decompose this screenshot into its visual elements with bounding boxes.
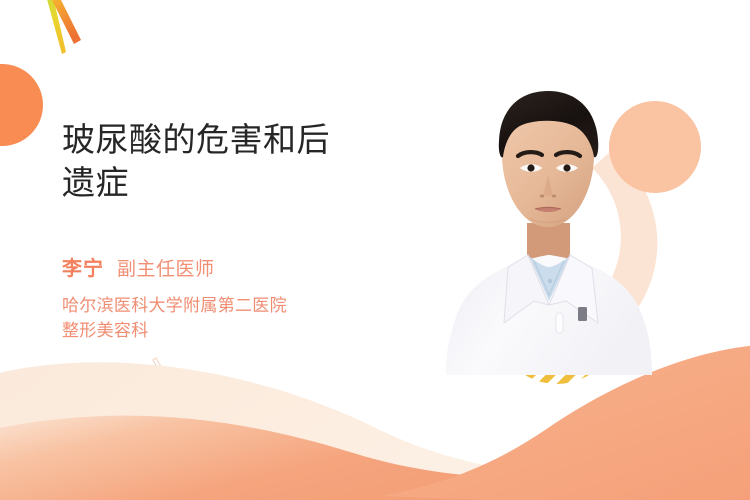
text-block: 玻尿酸的危害和后 遗症 李宁 副主任医师 哈尔滨医科大学附属第二医院 整形美容科 (62, 118, 422, 343)
shirt-button (548, 279, 552, 283)
doctor-photo (430, 55, 750, 390)
top-left-orange-stroke (48, 0, 81, 44)
page-title: 玻尿酸的危害和后 遗症 (62, 118, 422, 204)
hospital-name: 哈尔滨医科大学附属第二医院 (62, 293, 422, 318)
affiliation: 哈尔滨医科大学附属第二医院 整形美容科 (62, 293, 422, 343)
doctor-name: 李宁 (62, 252, 104, 281)
pocket-pen (556, 313, 563, 333)
top-left-thin-stroke (45, 0, 66, 54)
poster-canvas: 玻尿酸的危害和后 遗症 李宁 副主任医师 哈尔滨医科大学附属第二医院 整形美容科 (0, 0, 750, 500)
bottom-salmon-wave-back (0, 416, 750, 500)
doctor-rank: 副主任医师 (117, 254, 215, 281)
department-name: 整形美容科 (62, 318, 422, 343)
lower-left-outline-stroke (153, 358, 176, 394)
nostril-right (552, 195, 556, 198)
pupil-right (563, 164, 570, 171)
byline: 李宁 副主任医师 (62, 252, 422, 281)
doctor-portrait-illustration (430, 55, 750, 390)
left-orange-circle (0, 64, 43, 146)
pupil-left (527, 164, 534, 171)
pocket-badge (578, 307, 587, 321)
nostril-left (540, 195, 544, 198)
